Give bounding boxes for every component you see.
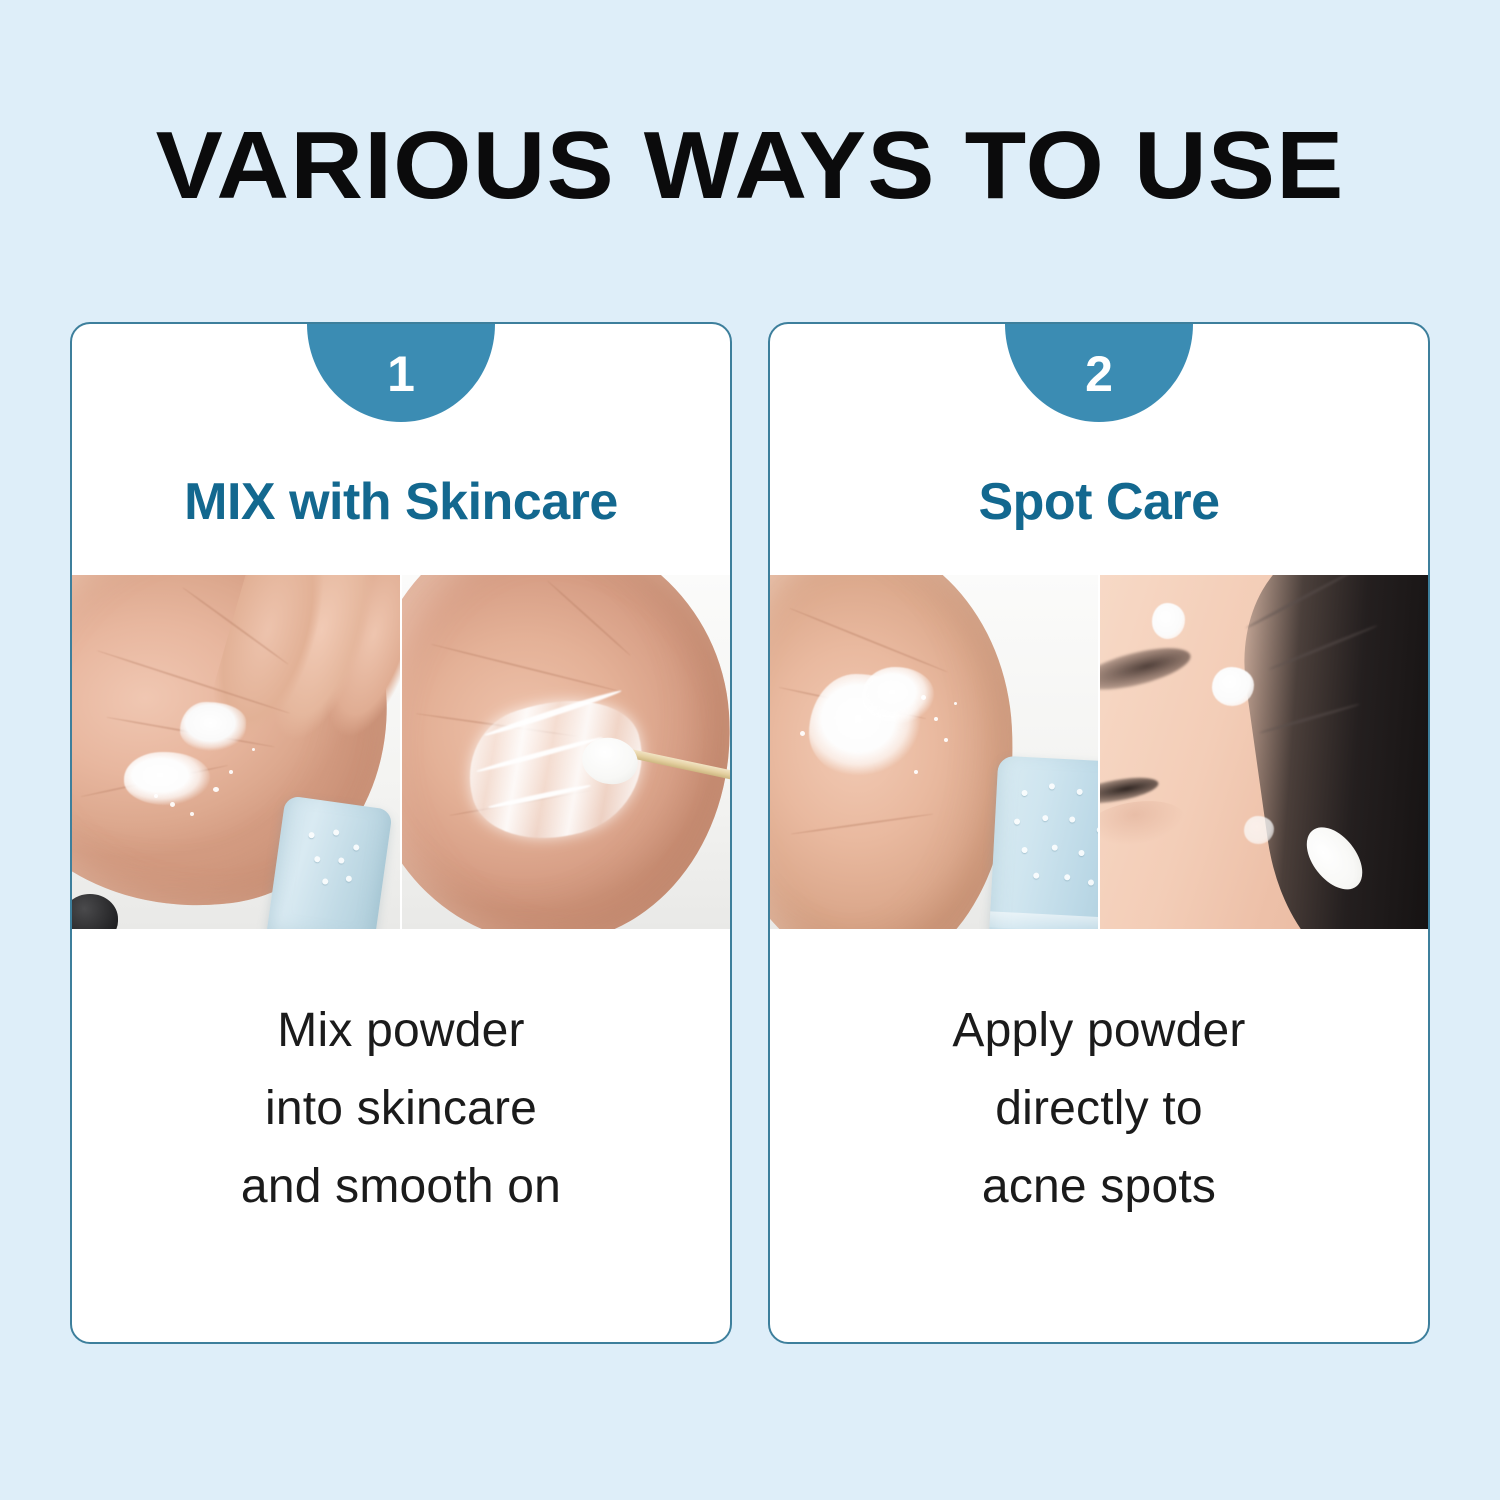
step-caption-2: Apply powder directly to acne spots (770, 992, 1428, 1225)
powder-jar (266, 795, 394, 929)
photo-palm-with-cream-smear-and-swab (400, 575, 730, 929)
step-number-badge-1: 1 (307, 324, 495, 422)
step-heading-1: MIX with Skincare (72, 476, 730, 528)
caption-line: Apply powder (770, 992, 1428, 1070)
step-heading-2: Spot Care (770, 476, 1428, 528)
photo-face-with-powder-spots-and-swab (1098, 575, 1428, 929)
step-card-2: 2 Spot Care (768, 322, 1430, 1344)
powder-jar (988, 756, 1098, 929)
step-number-label-1: 1 (387, 349, 415, 399)
caption-line: Mix powder (72, 992, 730, 1070)
steps-container: 1 MIX with Skincare (70, 322, 1430, 1344)
step-number-label-2: 2 (1085, 349, 1113, 399)
page-title: VARIOUS WAYS TO USE (0, 118, 1500, 214)
caption-line: and smooth on (72, 1148, 730, 1226)
caption-line: directly to (770, 1070, 1428, 1148)
photo-strip-1 (72, 575, 730, 929)
photo-palm-with-loose-powder-and-sifter-jar (770, 575, 1098, 929)
powder-heap (124, 752, 209, 805)
step-caption-1: Mix powder into skincare and smooth on (72, 992, 730, 1225)
jar-sifter-holes (988, 756, 1098, 929)
powder-speck (800, 731, 805, 736)
caption-line: into skincare (72, 1070, 730, 1148)
powder-speck (944, 738, 948, 742)
photo-palm-with-powder-and-jar (72, 575, 400, 929)
cream-dab (180, 702, 246, 752)
step-card-1: 1 MIX with Skincare (70, 322, 732, 1344)
jar-sifter-holes (266, 795, 394, 929)
powder-speck (934, 717, 938, 721)
step-number-badge-2: 2 (1005, 324, 1193, 422)
photo-strip-2 (770, 575, 1428, 929)
caption-line: acne spots (770, 1148, 1428, 1226)
